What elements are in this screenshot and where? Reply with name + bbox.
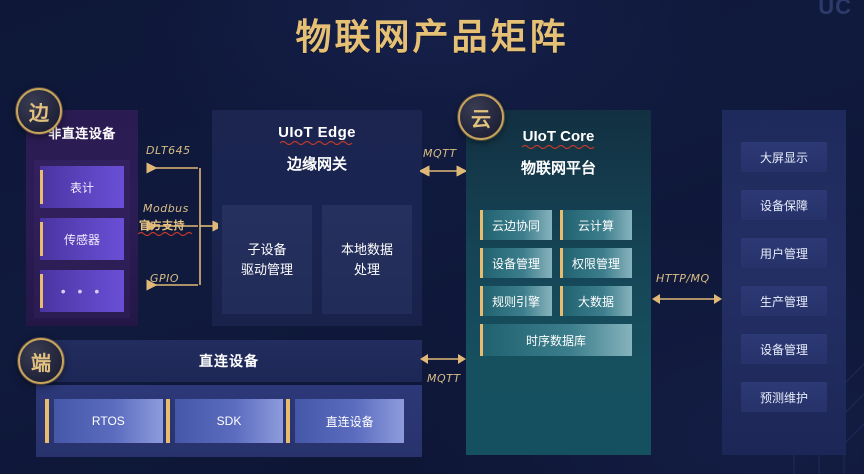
badge-device-label: 端	[31, 347, 51, 376]
core-title-cn: 物联网平台	[466, 157, 651, 178]
accent-bar-icon	[560, 286, 563, 316]
app-item-label: 设备管理	[760, 341, 808, 358]
connector-core-to-apps	[652, 292, 722, 306]
panel-applications: 大屏显示 设备保障 用户管理 生产管理 设备管理 预测维护	[722, 110, 846, 455]
accent-bar-icon	[480, 286, 483, 316]
app-item-user-management[interactable]: 用户管理	[741, 238, 827, 268]
accent-bar-icon	[480, 248, 483, 278]
app-item-label: 用户管理	[760, 245, 808, 262]
panel-uiot-core: UIoT Core 物联网平台 云边协同 云计算 设备管理 权限管理	[466, 110, 651, 455]
accent-bar-icon	[45, 399, 49, 443]
badge-edge-label: 边	[29, 97, 49, 126]
edge-box-list: 子设备 驱动管理 本地数据 处理	[222, 205, 412, 314]
app-item-device-management[interactable]: 设备管理	[741, 334, 827, 364]
app-item-big-screen[interactable]: 大屏显示	[741, 142, 827, 172]
core-cell-label: 大数据	[578, 293, 614, 310]
app-item-label: 大屏显示	[760, 149, 808, 166]
accent-bar-icon	[40, 222, 43, 256]
core-cell-cloud-edge-collab[interactable]: 云边协同	[480, 210, 552, 240]
connector-label-mqtt-edge-core: MQTT	[423, 147, 457, 160]
edge-box-local-data[interactable]: 本地数据 处理	[322, 205, 412, 314]
edge-title-group: UIoT Edge 边缘网关	[212, 124, 422, 174]
panel-direct-devices-list: RTOS SDK 直连设备	[36, 385, 422, 457]
accent-bar-icon	[40, 274, 43, 308]
accent-bar-icon	[560, 248, 563, 278]
connector-label-dlt645: DLT645	[146, 144, 191, 157]
core-cell-cloud-computing[interactable]: 云计算	[560, 210, 632, 240]
app-item-production-management[interactable]: 生产管理	[741, 286, 827, 316]
core-cell-rule-engine[interactable]: 规则引擎	[480, 286, 552, 316]
connector-label-gpio: GPIO	[150, 272, 179, 285]
nondirect-item-label: 传感器	[64, 231, 100, 248]
core-cell-label: 云计算	[578, 217, 614, 234]
core-cell-label: 设备管理	[492, 255, 540, 272]
spellcheck-squiggle-icon	[138, 231, 194, 236]
edge-box-line1: 本地数据	[341, 240, 393, 260]
edge-title-cn: 边缘网关	[212, 153, 422, 174]
connector-device-to-core	[420, 352, 466, 366]
application-list: 大屏显示 设备保障 用户管理 生产管理 设备管理 预测维护	[741, 142, 827, 412]
core-title-en: UIoT Core	[523, 128, 595, 145]
core-cell-label: 云边协同	[492, 217, 540, 234]
panel-uiot-edge: UIoT Edge 边缘网关 子设备 驱动管理 本地数据 处理	[212, 110, 422, 326]
nondirect-item-list: 表计 传感器 • • •	[34, 160, 130, 318]
accent-bar-icon	[480, 210, 483, 240]
page-title: 物联网产品矩阵	[0, 8, 864, 60]
badge-cloud-label: 云	[471, 103, 491, 132]
core-cell-permission-management[interactable]: 权限管理	[560, 248, 632, 278]
edge-title-en: UIoT Edge	[278, 124, 356, 141]
core-cell-label: 时序数据库	[526, 332, 586, 349]
core-cell-time-series-db[interactable]: 时序数据库	[480, 324, 632, 356]
app-item-label: 预测维护	[760, 389, 808, 406]
app-item-label: 设备保障	[760, 197, 808, 214]
connector-label-http-mq: HTTP/MQ	[656, 272, 710, 285]
nondirect-item-more[interactable]: • • •	[40, 270, 124, 312]
slide-canvas: UC 物联网产品矩阵 边 云 端 非直连设备 表计 传感器 • • •	[0, 0, 864, 474]
core-cell-big-data[interactable]: 大数据	[560, 286, 632, 316]
nondirect-item-label: • • •	[61, 283, 103, 299]
app-item-device-assurance[interactable]: 设备保障	[741, 190, 827, 220]
accent-bar-icon	[286, 399, 290, 443]
core-cell-label: 规则引擎	[492, 293, 540, 310]
panel-nondirect-devices: 非直连设备 表计 传感器 • • •	[26, 110, 138, 326]
badge-edge: 边	[16, 88, 62, 134]
nondirect-item-label: 表计	[70, 179, 94, 196]
edge-box-line2: 处理	[354, 260, 380, 280]
direct-devices-header-label: 直连设备	[199, 351, 259, 371]
direct-item-label: RTOS	[92, 414, 125, 428]
nondirect-item-sensor[interactable]: 传感器	[40, 218, 124, 260]
app-item-label: 生产管理	[760, 293, 808, 310]
direct-item-direct-device[interactable]: 直连设备	[295, 399, 404, 443]
accent-bar-icon	[560, 210, 563, 240]
edge-box-line2: 驱动管理	[241, 260, 293, 280]
direct-item-sdk[interactable]: SDK	[175, 399, 284, 443]
core-capability-grid: 云边协同 云计算 设备管理 权限管理 规则引擎 大数据	[480, 210, 637, 356]
connector-label-modbus: Modbus	[143, 202, 189, 215]
edge-box-subdevice-driver[interactable]: 子设备 驱动管理	[222, 205, 312, 314]
connector-label-mqtt-device-core: MQTT	[427, 372, 461, 385]
badge-device: 端	[18, 338, 64, 384]
connector-edge-to-core	[420, 164, 466, 178]
app-item-predictive-maintenance[interactable]: 预测维护	[741, 382, 827, 412]
direct-item-rtos[interactable]: RTOS	[54, 399, 163, 443]
edge-box-line1: 子设备	[247, 240, 286, 260]
panel-direct-devices-header: 直连设备	[36, 340, 422, 382]
accent-bar-icon	[166, 399, 170, 443]
core-cell-label: 权限管理	[572, 255, 620, 272]
accent-bar-icon	[40, 170, 43, 204]
accent-bar-icon	[480, 324, 483, 356]
badge-cloud: 云	[458, 94, 504, 140]
direct-item-label: 直连设备	[326, 413, 374, 430]
core-cell-device-management[interactable]: 设备管理	[480, 248, 552, 278]
direct-item-label: SDK	[217, 414, 242, 428]
nondirect-item-meter[interactable]: 表计	[40, 166, 124, 208]
